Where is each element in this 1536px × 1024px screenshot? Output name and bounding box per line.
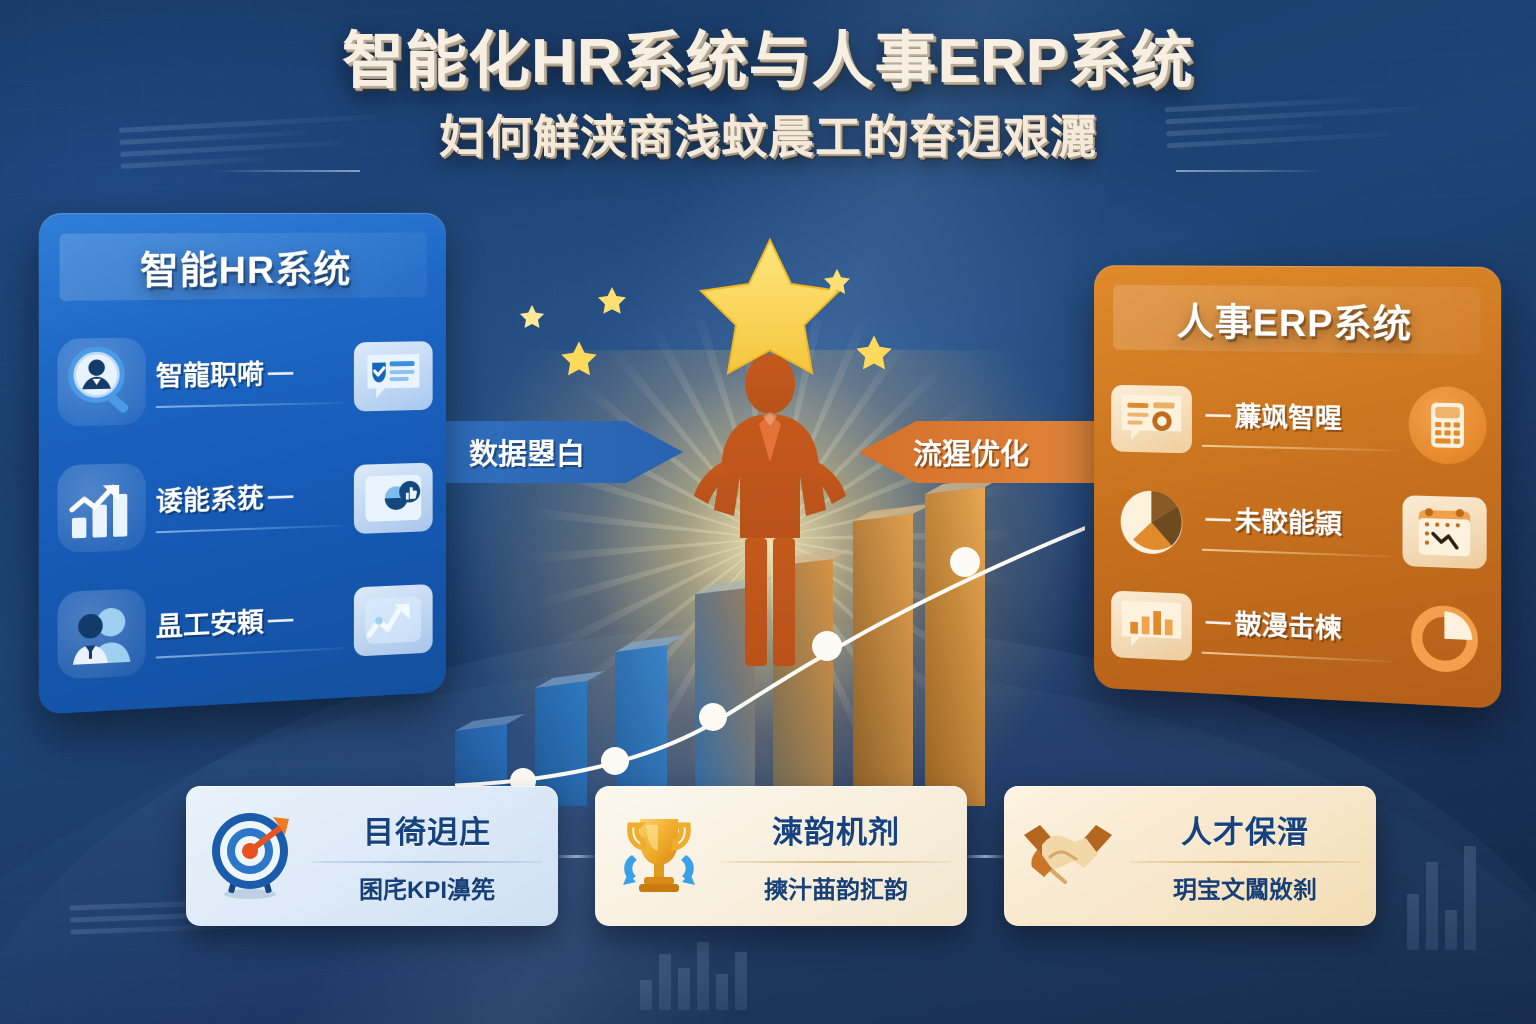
- background-bars-bottom: [640, 930, 747, 1010]
- card-rule: [1130, 861, 1360, 863]
- businessman-silhouette-icon: [675, 350, 865, 685]
- list-item[interactable]: — 皵漫击楝: [1111, 572, 1487, 694]
- list-item[interactable]: — 薕飒智暒: [1111, 367, 1487, 480]
- card-connector-1: [556, 855, 597, 858]
- card-title: 目徛迌庄: [363, 807, 491, 852]
- panel-hr-erp[interactable]: 人事ERP系统 —: [1094, 265, 1501, 709]
- list-item-rule: [1202, 445, 1399, 452]
- panel-hr-erp-rows: — 薕飒智暒: [1111, 367, 1487, 694]
- list-item-rule: [156, 401, 344, 407]
- calculator-icon: [1409, 386, 1487, 465]
- subtitle-rule-left: [210, 170, 360, 172]
- list-item-dash: —: [264, 356, 297, 388]
- card-goal-setting[interactable]: 目徛迌庄 囷㡯KPI濞筅: [186, 786, 558, 926]
- card-rule: [312, 861, 542, 863]
- gold-star-small-icon: [560, 340, 598, 382]
- list-item[interactable]: 昷工安頼 —: [57, 563, 432, 693]
- arrow-left-label: 数据曌白: [469, 431, 585, 473]
- list-item-dash: —: [264, 602, 297, 634]
- card-title: 人才保溍: [1181, 807, 1309, 852]
- card-incentive-mechanism-text: 湅韵机剂 摤汁䒼韵㧟韵: [721, 807, 951, 905]
- card-incentive-mechanism[interactable]: 湅韵机剂 摤汁䒼韵㧟韵: [595, 786, 967, 926]
- card-connector-2: [965, 855, 1006, 858]
- card-title: 湅韵机剂: [772, 807, 900, 852]
- calendar-trend-icon: [1403, 495, 1487, 569]
- list-item-body: — 未骹能頴: [1202, 498, 1393, 557]
- card-goal-setting-text: 目徛迌庄 囷㡯KPI濞筅: [312, 807, 542, 905]
- card-talent-retention-text: 人才保溍 玥宝文䦱敚刹: [1130, 807, 1360, 905]
- card-rule: [721, 861, 951, 863]
- gold-star-small-icon: [823, 268, 851, 300]
- card-talent-retention[interactable]: 人才保溍 玥宝文䦱敚刹: [1004, 786, 1376, 926]
- list-item-label: 诿能系莸: [156, 476, 264, 519]
- background-bars-right: [1407, 840, 1476, 950]
- target-dartboard-icon: [202, 808, 298, 904]
- card-subtitle: 玥宝文䦱敚刹: [1173, 870, 1317, 905]
- center-stage: 数据曌白 流猩优化: [455, 200, 1085, 800]
- gold-star-small-icon: [519, 304, 545, 334]
- handshake-icon: [1020, 808, 1116, 904]
- id-card-chat-icon: [1111, 385, 1192, 454]
- page-subtitle: 妇何觧浃商浅蚊晨工的昚迌艰灑: [0, 101, 1536, 167]
- person-search-icon: [57, 337, 145, 426]
- list-item-dash: —: [1202, 502, 1235, 534]
- panel-smart-hr-header: 智能HR系统: [60, 232, 427, 300]
- list-item[interactable]: 智龍职嗬 —: [57, 321, 432, 440]
- bottom-card-strip: 目徛迌庄 囷㡯KPI濞筅: [186, 786, 1376, 926]
- trend-arrow-icon: [354, 584, 433, 657]
- list-item-rule: [156, 524, 344, 533]
- card-subtitle: 摤汁䒼韵㧟韵: [764, 870, 908, 905]
- card-subtitle: 囷㡯KPI濞筅: [359, 870, 495, 905]
- list-item-rule: [1202, 548, 1393, 557]
- list-item-dash: —: [1202, 605, 1235, 637]
- panel-smart-hr-rows: 智龍职嗬 —: [57, 315, 432, 700]
- checklist-chat-icon: [354, 341, 433, 411]
- bar-chart-chat-icon: [1111, 590, 1192, 661]
- panel-hr-erp-header: 人事ERP系统: [1113, 285, 1480, 355]
- subtitle-rule-right: [1176, 170, 1326, 172]
- growth-bar-chart-icon: [57, 463, 145, 553]
- list-item-label: 昷工安頼: [156, 600, 264, 644]
- title-block: 智能化HR系统与人事ERP系统 妇何觧浃商浅蚊晨工的昚迌艰灑: [0, 30, 1536, 167]
- list-item[interactable]: 诿能系莸 —: [57, 442, 432, 566]
- panel-hr-erp-title: 人事ERP系统: [1177, 291, 1412, 348]
- list-item-label: 智龍职嗬: [156, 352, 264, 393]
- list-item-label: 未骹能頴: [1235, 499, 1342, 541]
- trophy-icon: [611, 808, 707, 904]
- arrow-right-label: 流猩优化: [913, 431, 1029, 473]
- panel-smart-hr-title: 智能HR系统: [140, 238, 351, 294]
- list-item-body: 昷工安頼 —: [156, 596, 344, 658]
- page-title: 智能化HR系统与人事ERP系统: [0, 30, 1536, 93]
- list-item-dash: —: [264, 479, 297, 511]
- list-item-body: — 薕飒智暒: [1202, 394, 1399, 451]
- list-item-body: 智龍职嗬 —: [156, 351, 344, 408]
- panel-smart-hr[interactable]: 智能HR系统 智龍职嗬: [39, 213, 446, 715]
- people-group-icon: [57, 588, 145, 680]
- list-item-dash: —: [1202, 398, 1235, 429]
- list-item-rule: [1202, 652, 1393, 663]
- infographic-canvas: 智能化HR系统与人事ERP系统 妇何觧浃商浅蚊晨工的昚迌艰灑 智能HR系统: [0, 0, 1536, 1024]
- pie-chart-icon: [1111, 487, 1192, 559]
- list-item-rule: [156, 647, 344, 658]
- list-item-label: 皵漫击楝: [1235, 603, 1342, 647]
- gold-star-small-icon: [597, 286, 627, 320]
- donut-chart-icon: [1403, 601, 1487, 676]
- list-item[interactable]: — 未骹能頴: [1111, 470, 1487, 587]
- list-item-body: — 皵漫击楝: [1202, 601, 1393, 663]
- pie-thumbsup-icon: [354, 463, 433, 534]
- list-item-body: 诿能系莸 —: [156, 474, 344, 533]
- list-item-label: 薕飒智暒: [1235, 395, 1342, 436]
